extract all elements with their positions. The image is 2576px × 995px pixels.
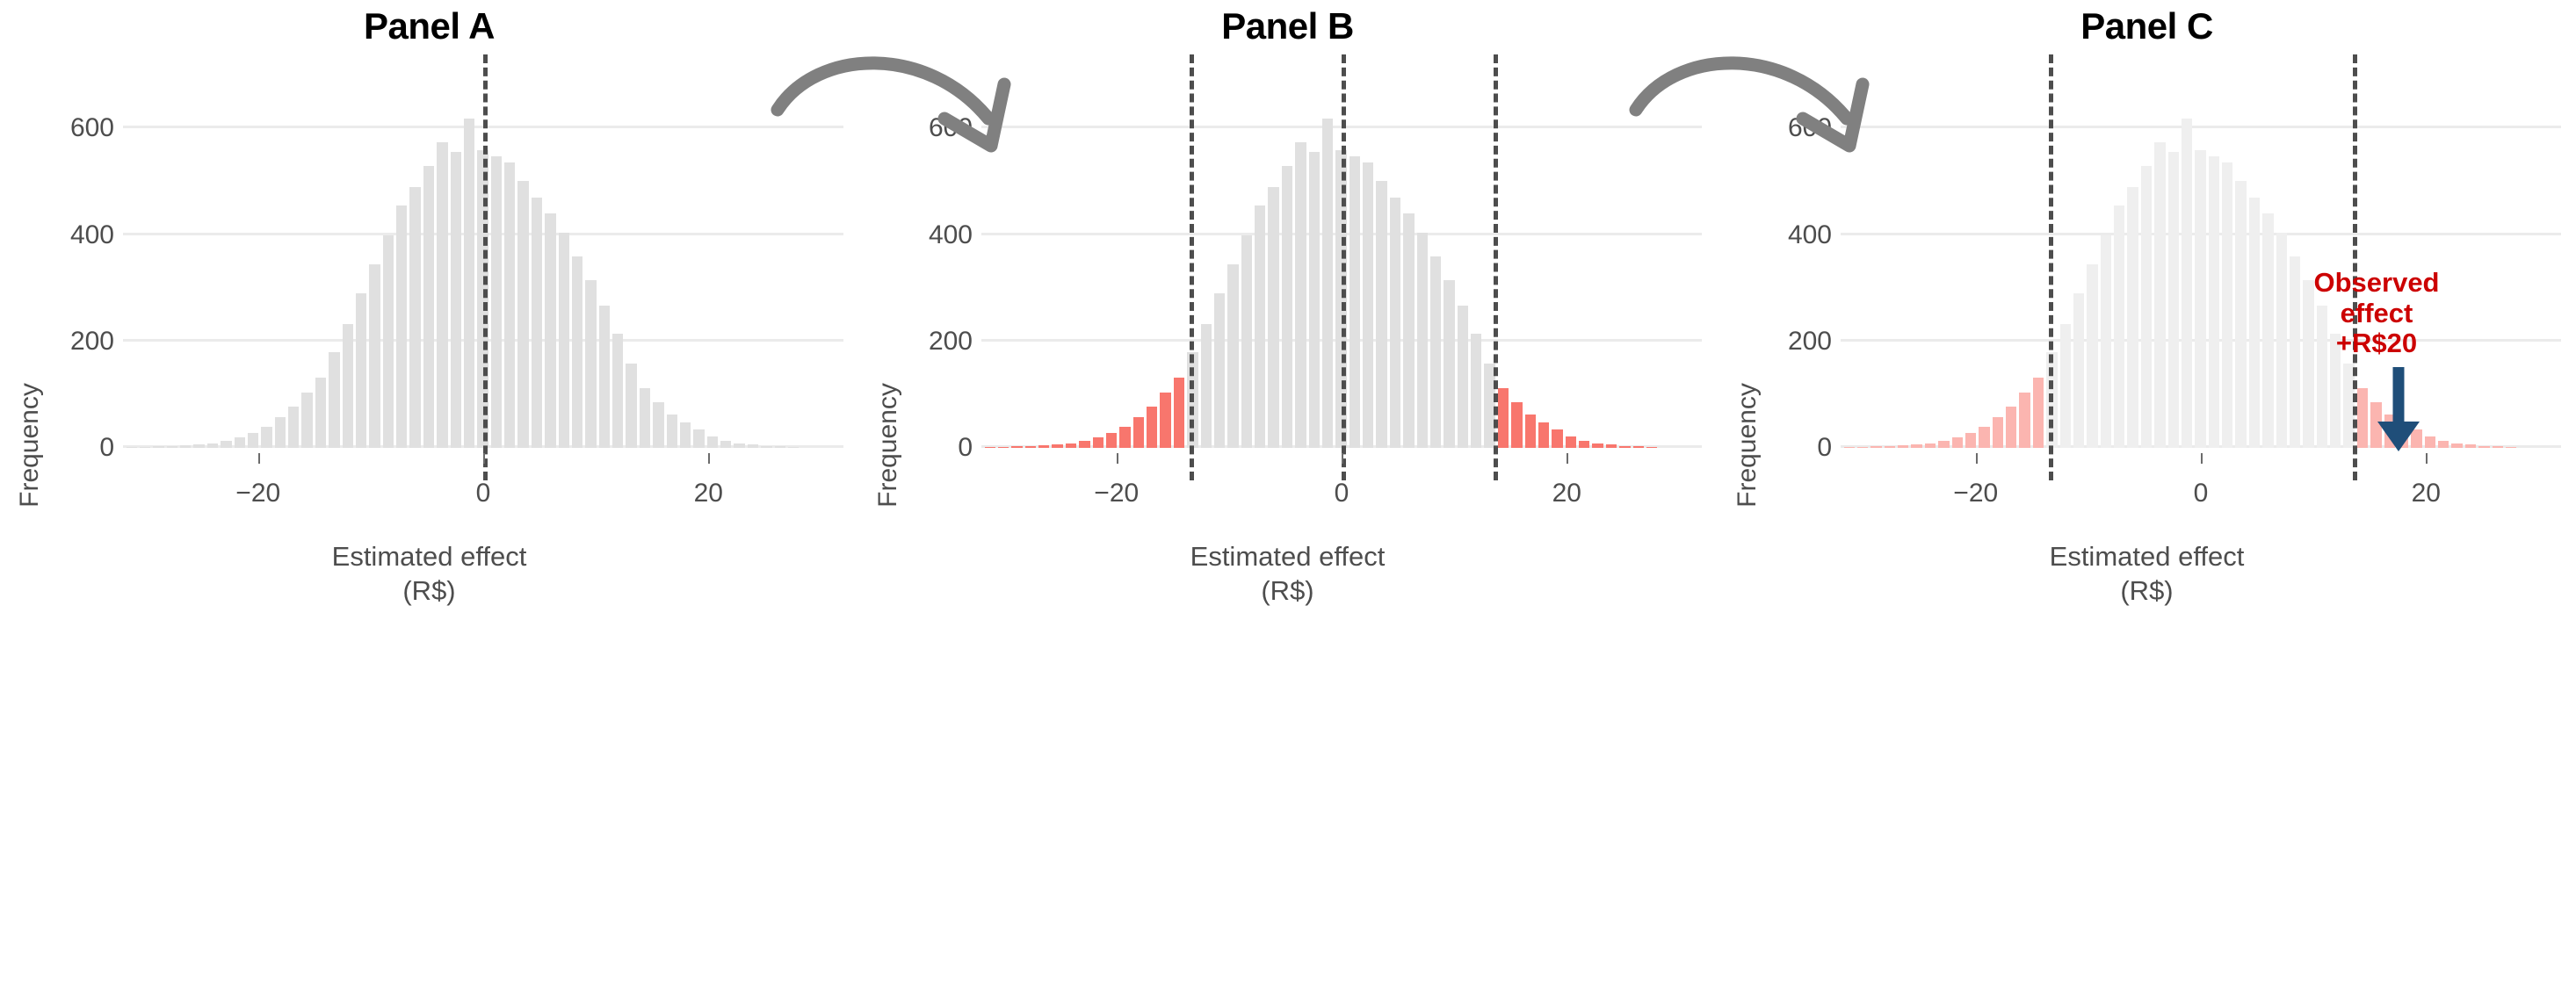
figure-root: Panel A Frequency 0200400600 Estimated e… (0, 0, 2576, 995)
observed-effect-arrow-icon (0, 0, 2576, 995)
